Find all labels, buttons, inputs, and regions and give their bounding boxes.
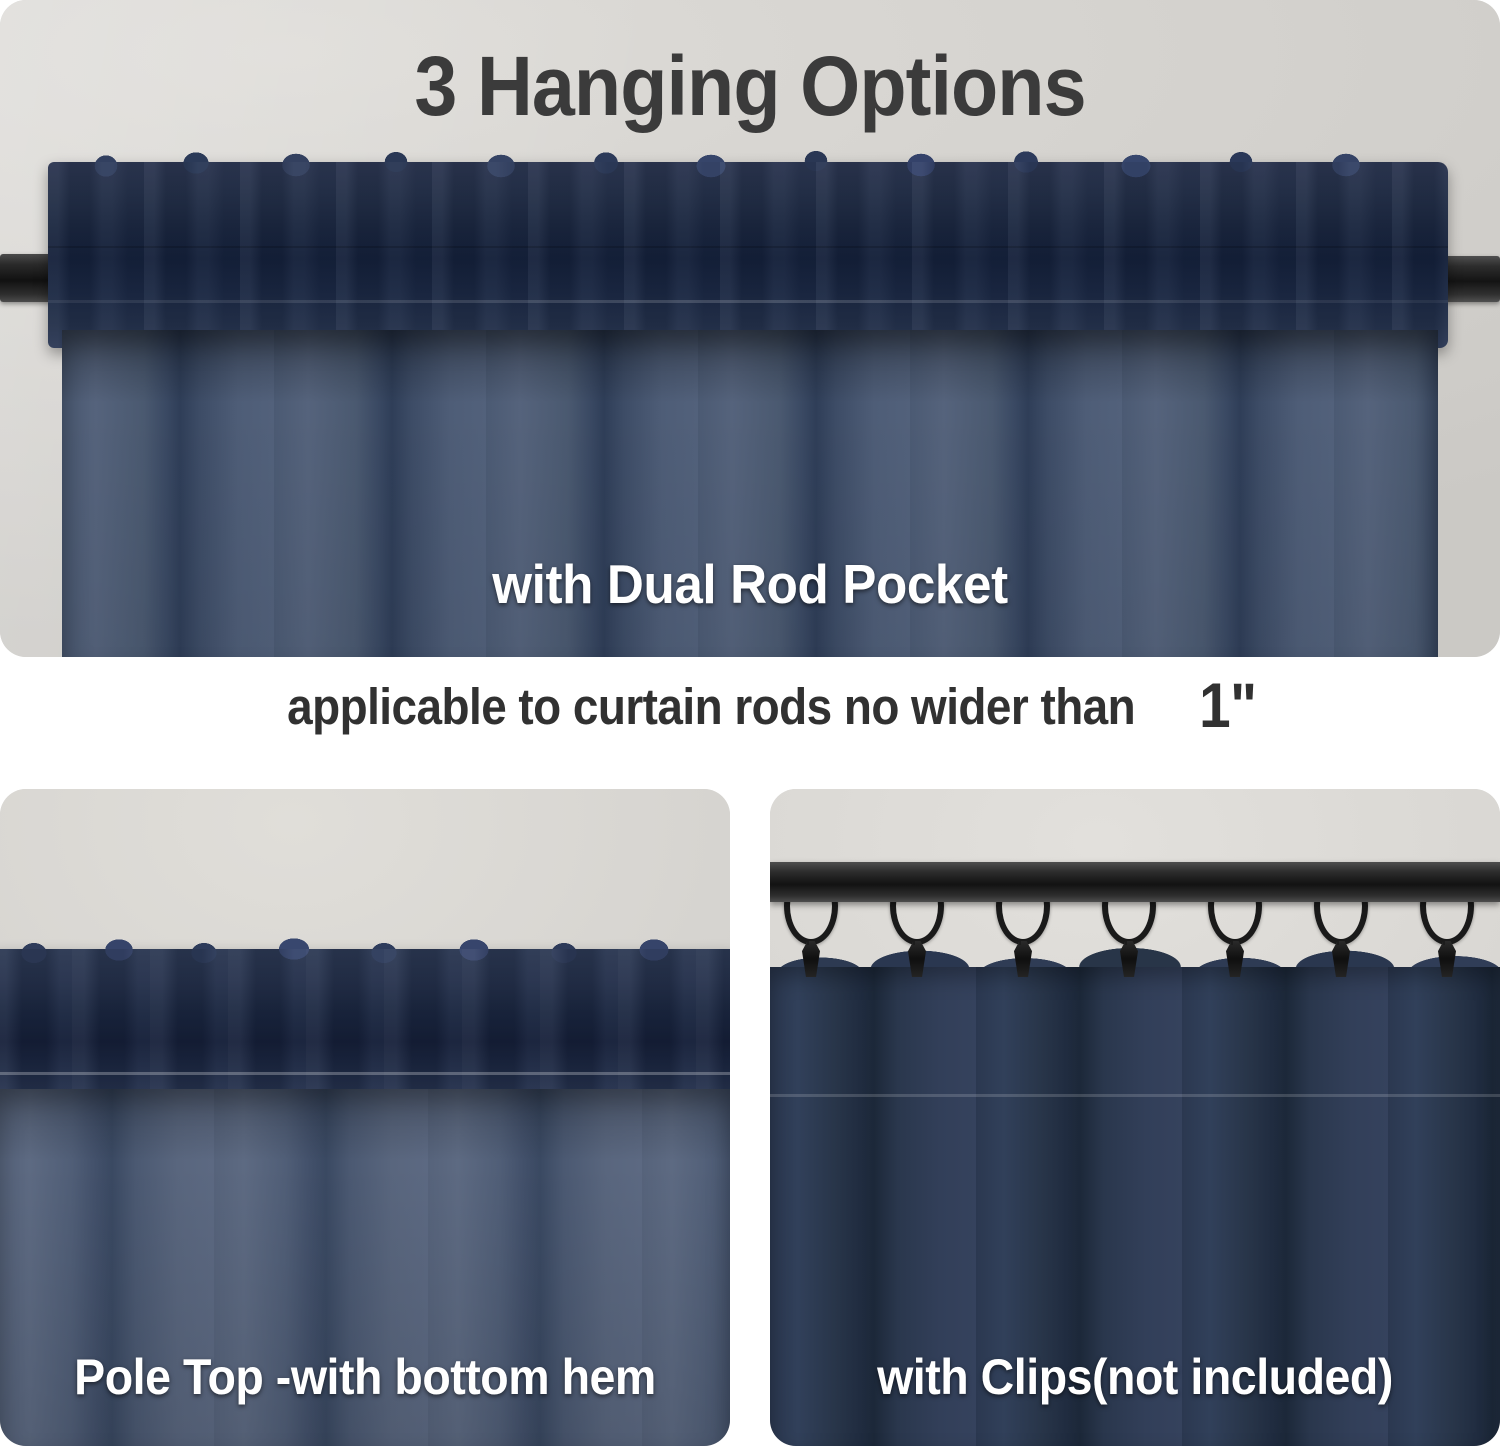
rod-width-measurement: 1" (1199, 678, 1256, 735)
rod-pocket-lower-seam (48, 300, 1448, 303)
panel-caption-with-clips: with Clips(not included) (796, 1348, 1475, 1406)
rod-width-note-text: applicable to curtain rods no wider than (287, 677, 1135, 736)
clips-panel-seam (770, 1094, 1500, 1097)
panel-pole-top: Pole Top -with bottom hem (0, 789, 730, 1446)
panel-with-clips: with Clips(not included) (770, 789, 1500, 1446)
gathered-header-icon (0, 949, 730, 1104)
panel-caption-dual-rod-pocket: with Dual Rod Pocket (53, 552, 1448, 616)
curtain-rod-icon-clips (770, 862, 1500, 902)
pole-top-seam (0, 1072, 730, 1075)
rod-pocket-header-icon (48, 162, 1448, 348)
rod-width-note: applicable to curtain rods no wider than… (0, 668, 1500, 744)
product-infographic: with Dual Rod Pocket 3 Hanging Options a… (0, 0, 1500, 1446)
rod-pocket-upper-seam (48, 246, 1448, 248)
panel-caption-pole-top: Pole Top -with bottom hem (26, 1348, 705, 1406)
page-title: 3 Hanging Options (60, 38, 1440, 135)
